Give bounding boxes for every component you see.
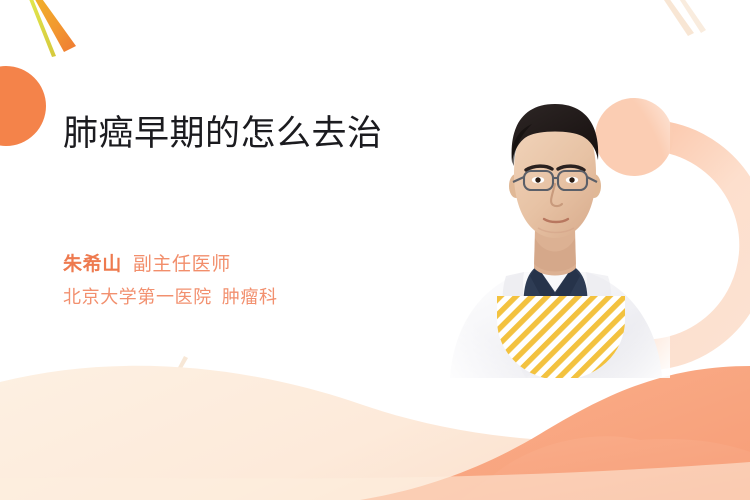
text-block: 肺癌早期的怎么去治 朱希山副主任医师 北京大学第一医院肿瘤科 xyxy=(63,112,423,156)
orange-circle xyxy=(0,66,46,146)
hospital-name: 北京大学第一医院 xyxy=(63,287,212,307)
byline: 朱希山副主任医师 xyxy=(63,252,231,278)
bottom-pale-wave xyxy=(0,366,750,500)
page-title: 肺癌早期的怎么去治 xyxy=(63,112,398,156)
bottom-blend-band xyxy=(0,462,750,500)
video-cover-card: 肺癌早期的怎么去治 朱希山副主任医师 北京大学第一医院肿瘤科 xyxy=(0,0,750,500)
doctor-name: 朱希山 xyxy=(63,254,122,275)
bottom-center-salmon-lobe xyxy=(460,436,750,500)
top-right-accent-strokes xyxy=(660,0,706,36)
doctor-job-title: 副主任医师 xyxy=(133,254,231,275)
doctor-portrait xyxy=(440,78,670,378)
bottom-right-salmon-wave xyxy=(360,366,750,500)
department-name: 肿瘤科 xyxy=(222,287,278,307)
top-left-accent-strokes xyxy=(27,0,76,57)
affiliation: 北京大学第一医院肿瘤科 xyxy=(63,284,278,310)
faint-diagonal-line xyxy=(163,356,188,396)
